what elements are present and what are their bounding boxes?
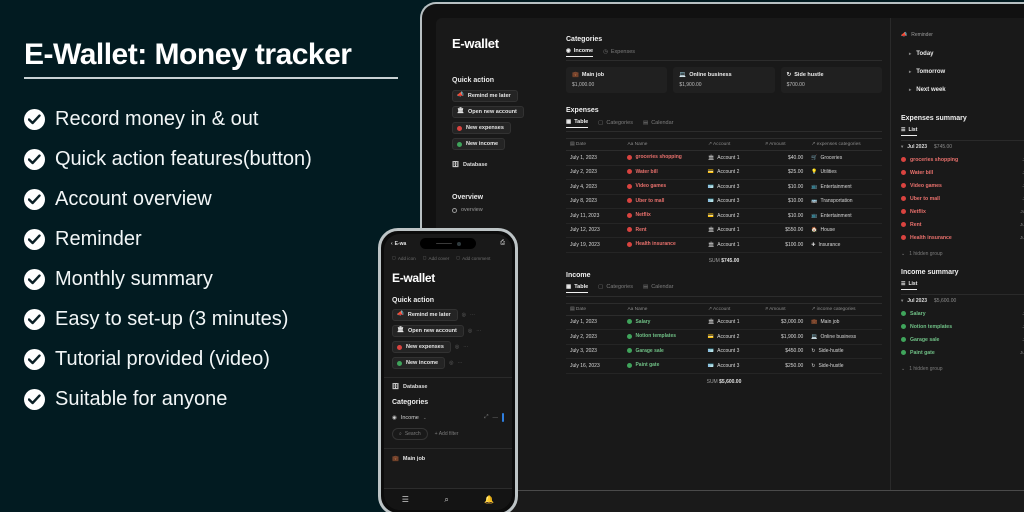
cell-account: 💳 Account 2 [704,209,761,224]
feature-item: Record money in & out [24,99,424,139]
cell-name: Health insurance [623,238,703,253]
summary-row-name: Water bill [910,170,1018,176]
summary-row[interactable]: groceries shopping Jul 1 [901,153,1024,166]
cell-date: July 8, 2023 [566,194,623,209]
feature-label: Record money in & out [55,108,258,131]
phone-quick-action-heading: Quick action [384,285,512,309]
database-icon: 🗄 [392,384,399,390]
phone-quick-action-button[interactable]: 🏛Open new account [392,325,464,337]
refresh-icon: ↻ [811,363,815,369]
cell-date: July 2, 2023 [566,330,623,345]
table-row[interactable]: July 2, 2023 Water bill 💳 Account 2 $25.… [566,165,882,180]
cell-date: July 16, 2023 [566,359,623,374]
laptop-screen: E-wallet Quick action 📣Remind me later 🏛… [436,18,1024,512]
more-icon[interactable]: — [493,415,499,421]
tab-income[interactable]: ◉ Income [566,48,593,57]
phone-bottom-nav: ☰ ⌕ 🔔 [384,488,512,510]
column-icon: ↗ [811,142,815,147]
summary-row[interactable]: Notion templates Jul 2 [901,320,1024,333]
refresh-icon: ↻ [811,348,815,354]
tab-label: Table [574,284,588,290]
quick-action-remind-me-later[interactable]: 📣Remind me later [452,90,518,102]
income-table-header: ▤ Date Aa Name ↗ Account # Amount ↗ inco… [566,303,882,315]
table-row[interactable]: July 2, 2023 Notion templates 💳 Account … [566,330,882,345]
table-row[interactable]: July 11, 2023 Netflix 💳 Account 2 $10.00… [566,209,882,224]
bank-icon: 🏛 [457,109,464,115]
category-card-name-row: 💻 Online business [679,72,768,78]
summary-row[interactable]: Paint gate Jul 16 [901,346,1024,359]
summary-row-name: Rent [910,222,1016,228]
bank-icon: 🏛 [708,155,714,161]
refresh-icon: ↻ [787,72,792,78]
quick-action-label: New income [466,141,498,147]
phone-notch [420,238,476,249]
cell-date: July 19, 2023 [566,238,623,253]
income-tabs: ▦ Table ▢ Categories ▤ Calendar [566,284,882,297]
cell-category: ✚ Insurance [807,238,882,253]
category-card-amount: $700.00 [787,82,876,88]
quick-action-label: Remind me later [468,93,511,99]
quick-action-heading: Quick action [452,77,548,84]
column-header[interactable]: # Amount [761,303,807,315]
add-filter-button[interactable]: + Add filter [435,431,459,437]
minus-circle-icon [627,155,632,160]
quick-action-new-expenses[interactable]: New expenses [452,122,511,134]
cell-amount: $10.00 [761,194,807,209]
quick-action-label: Open new account [468,109,517,115]
income-summary-group[interactable]: ▾ Jul 2023 $5,600.00 [901,294,1024,307]
ewallet-app: E-wallet Quick action 📣Remind me later 🏛… [436,18,1024,512]
column-label: Account [713,142,730,147]
chevron-down-icon: ▾ [901,298,903,304]
more-icon[interactable]: ⋯ [463,344,469,350]
cell-category: 💼 Main job [807,315,882,330]
cart-icon: 🛒 [811,155,817,161]
bank-icon: 🏛 [397,328,404,334]
phone-first-item-label: Main job [403,456,425,462]
expenses-sum-value: $745.00 [721,258,739,264]
summary-row-name: Video games [910,183,1018,189]
tab-label: Expenses [611,49,635,55]
database-link[interactable]: 🗄 Database [452,162,548,168]
expenses-summary-view-label: List [908,127,917,133]
column-header[interactable]: ↗ Account [704,303,761,315]
summary-row-name: Garage sale [910,337,1018,343]
phone-database-link[interactable]: 🗄 Database [384,377,512,390]
bank-icon: 🏛 [708,242,714,248]
column-header[interactable]: ▤ Date [566,139,623,151]
category-card-name-row: 💼 Main job [572,72,661,78]
wallet-icon: 🪪 [708,198,714,204]
expenses-hidden-label: 1 hidden group [909,251,942,257]
cell-category: ↻ Side-hustle [807,359,882,374]
app-right-sidebar: 📣 Reminder ▸ Today ▸ Tomorrow ▸ Next wee… [890,18,1024,512]
add-filter-label: Add filter [439,431,459,437]
tab-calendar[interactable]: ▤ Calendar [643,119,674,128]
category-card-name: Main job [582,72,604,78]
cell-name: groceries shopping [623,151,703,166]
plus-circle-icon [901,350,906,355]
phone-quick-action-row: New income ◎ ⋯ [384,357,512,373]
expenses-hidden-group[interactable]: ⌄ 1 hidden group [901,251,1024,257]
expenses-summary-view-tab[interactable]: ☰ List [901,127,917,136]
cell-name: Rent [623,223,703,238]
phone-meta-add-comment[interactable]: ◻ Add comment [456,255,490,261]
minus-circle-icon [397,345,402,350]
income-summary-group-label: Jul 2023 [907,298,927,304]
feature-label: Account overview [55,188,212,211]
tab-table[interactable]: ▦ Table [566,284,588,293]
cell-account: 🏛 Account 1 [704,238,761,253]
category-card[interactable]: 💼 Main job $1,000.00 [566,67,667,93]
overview-label: overview [461,207,483,213]
column-header[interactable]: ↗ expenses categories [807,139,882,151]
cell-category: 💻 Online business [807,330,882,345]
reminder-item-label: Today [916,51,933,57]
phone-quick-action-button[interactable]: New expenses [392,341,451,353]
expand-icon[interactable]: ⤢ [484,414,488,421]
table-icon: ▦ [566,119,571,125]
calendar-icon: ▤ [643,120,648,126]
phone-quick-action-row: 📣Remind me later ◎ ⋯ [384,309,512,325]
plus-circle-icon [457,142,462,147]
home-icon: 🏠 [811,227,817,233]
cell-date: July 11, 2023 [566,209,623,224]
phone-back-button[interactable]: ‹ E-wa [391,241,406,247]
expenses-tabs: ▦ Table ▢ Categories ▤ Calendar [566,119,882,132]
phone-meta-add-cover[interactable]: ◻ Add cover [423,255,450,261]
income-sum-value: $5,600.00 [719,379,741,385]
summary-row-name: Uber to mall [910,196,1018,202]
tv-icon: 📺 [811,184,817,190]
cell-date: July 1, 2023 [566,315,623,330]
check-circle-icon [24,109,45,130]
plus-circle-icon [901,337,906,342]
cell-category: 🏠 House [807,223,882,238]
minus-circle-icon [901,196,906,201]
phone-quick-action-button[interactable]: 📣Remind me later [392,309,458,321]
column-icon: ▤ [570,142,575,147]
feature-item: Account overview [24,179,424,219]
table-row[interactable]: July 1, 2023 groceries shopping 🏛 Accoun… [566,151,882,166]
summary-row-name: Health insurance [910,235,1016,241]
expenses-summary-title: Expenses summary [901,115,1024,122]
table-row[interactable]: July 12, 2023 Rent 🏛 Account 1 $550.00 🏠… [566,223,882,238]
feature-label: Reminder [55,228,142,251]
minus-circle-icon [627,242,632,247]
check-circle-icon [24,269,45,290]
sidebar-item-overview[interactable]: overview [452,207,548,213]
expenses-table: ▤ Date Aa Name ↗ Account # Amount ↗ expe… [566,138,882,253]
income-title: Income [566,272,882,279]
check-circle-icon [24,189,45,210]
megaphone-icon: 📣 [901,32,907,38]
chevron-down-icon: ⌄ [901,251,905,257]
cell-amount: $10.00 [761,180,807,195]
search-input[interactable]: ⌕ Search [392,428,428,440]
card-icon: 💳 [708,334,714,340]
app-title: E-wallet [452,36,548,51]
cell-amount: $3,000.00 [761,315,807,330]
phone-quick-action-label: New income [406,360,438,366]
cell-name: Notion templates [623,330,703,345]
cell-amount: $40.00 [761,151,807,166]
cell-amount: $450.00 [761,344,807,359]
income-summary-view-tab[interactable]: ☰ List [901,281,917,290]
feature-item: Monthly summary [24,259,424,299]
quick-action-new-income[interactable]: New income [452,138,505,150]
laptop-icon: 💻 [679,72,686,78]
category-card[interactable]: 💻 Online business $1,900.00 [673,67,774,93]
summary-row-date: Jul 16 [1020,350,1024,355]
cell-date: July 12, 2023 [566,223,623,238]
more-icon[interactable]: ⋯ [476,328,482,334]
column-label: Date [576,307,586,312]
options-icon[interactable]: ◎ [462,312,466,318]
bell-icon[interactable]: 🔔 [484,495,494,504]
summary-row[interactable]: Salary Jul 1 [901,307,1024,320]
summary-row-date: Jul 11 [1020,209,1024,214]
expenses-summary-list: groceries shopping Jul 1 Water bill Jul … [901,153,1024,244]
phone-quick-action-row: New expenses ◎ ⋯ [384,341,512,357]
income-summary-group-amount: $5,600.00 [934,298,956,304]
wallet-icon: 🪪 [708,363,714,369]
list-icon: ☰ [901,281,905,287]
promo-panel: E-Wallet: Money tracker Record money in … [24,38,424,419]
summary-row[interactable]: Netflix Jul 11 [901,205,1024,218]
summary-row[interactable]: Rent Jul 12 [901,218,1024,231]
options-icon[interactable]: ◎ [455,344,459,350]
more-icon[interactable]: ⋯ [470,312,476,318]
cell-amount: $1,900.00 [761,330,807,345]
cross-icon: ✚ [811,242,815,248]
tab-calendar[interactable]: ▤ Calendar [643,284,674,293]
tab-expenses[interactable]: ◷ Expenses [603,48,635,57]
summary-row[interactable]: Video games Jul 4 [901,179,1024,192]
quick-action-list: 📣Remind me later 🏛Open new account New e… [452,90,548,154]
share-icon[interactable]: ⎙ [500,240,505,247]
summary-row-name: Paint gate [910,350,1016,356]
minus-circle-icon [901,157,906,162]
feature-list: Record money in & out Quick action featu… [24,99,424,419]
minus-circle-icon [627,227,632,232]
income-summary-title: Income summary [901,269,1024,276]
table-row[interactable]: July 16, 2023 Paint gate 🪪 Account 3 $25… [566,359,882,374]
reminder-item-label: Tomorrow [916,69,945,75]
table-row[interactable]: July 19, 2023 Health insurance 🏛 Account… [566,238,882,253]
expenses-summary-group[interactable]: ▾ Jul 2023 $745.00 [901,140,1024,153]
category-card[interactable]: ↻ Side hustle $700.00 [781,67,882,93]
megaphone-icon: 📣 [457,93,464,99]
summary-row-name: Netflix [910,209,1016,215]
gallery-icon: ▢ [598,120,603,126]
summary-row[interactable]: Garage sale Jul 3 [901,333,1024,346]
phone-page-meta: ◻ Add icon ◻ Add cover ◻ Add comment [384,247,512,261]
column-header[interactable]: Aa Name [623,139,703,151]
cell-name: Video games [623,180,703,195]
database-label: Database [463,162,487,168]
cell-amount: $25.00 [761,165,807,180]
category-card-amount: $1,900.00 [679,82,768,88]
phone-meta-label: Add cover [429,256,450,261]
expenses-table-header: ▤ Date Aa Name ↗ Account # Amount ↗ expe… [566,139,882,151]
cell-account: 🪪 Account 3 [704,344,761,359]
table-row[interactable]: July 4, 2023 Video games 🪪 Account 3 $10… [566,180,882,195]
category-card-name-row: ↻ Side hustle [787,72,876,78]
wallet-icon: 🪪 [708,184,714,190]
reminder-list: ▸ Today ▸ Tomorrow ▸ Next week [901,45,1024,99]
plus-circle-icon [627,334,632,339]
table-row[interactable]: July 1, 2023 Salary 🏛 Account 1 $3,000.0… [566,315,882,330]
briefcase-icon: 💼 [392,456,399,462]
summary-row[interactable]: Water bill Jul 2 [901,166,1024,179]
column-icon: ↗ [708,142,712,147]
tab-categories[interactable]: ▢ Categories [598,284,633,293]
gallery-icon: ▢ [598,284,603,290]
summary-row[interactable]: Uber to mall Jul 8 [901,192,1024,205]
phone-meta-label: Add icon [398,256,416,261]
column-icon: ▤ [570,307,575,312]
column-icon: ↗ [708,307,712,312]
check-circle-icon [24,229,45,250]
feature-item: Tutorial provided (video) [24,339,424,379]
category-cards: 💼 Main job $1,000.00 💻 Online business $… [566,67,882,93]
income-sum: SUM $5,600.00 [566,374,882,385]
summary-row-date: Jul 12 [1020,222,1024,227]
cell-account: 🪪 Account 3 [704,359,761,374]
phone-category-selected: Income [401,415,419,421]
briefcase-icon: 💼 [811,319,817,325]
overview-heading: Overview [452,194,548,201]
feature-item: Reminder [24,219,424,259]
clock-icon: ◷ [603,49,608,55]
income-sum-label: SUM [707,379,718,385]
calendar-icon: ▤ [643,284,648,290]
income-hidden-group[interactable]: ⌄ 1 hidden group [901,366,1024,372]
cell-date: July 4, 2023 [566,180,623,195]
cell-category: ↻ Side-hustle [807,344,882,359]
reminder-item-label: Next week [916,87,945,93]
cell-date: July 3, 2023 [566,344,623,359]
column-header[interactable]: ↗ Account [704,139,761,151]
cell-date: July 2, 2023 [566,165,623,180]
column-icon: Aa [627,142,633,147]
chevron-down-icon: ▾ [901,144,903,150]
megaphone-icon: 📣 [397,312,404,318]
phone-quick-action-button[interactable]: New income [392,357,445,369]
cell-date: July 1, 2023 [566,151,623,166]
cell-category: 🛒 Groceries [807,151,882,166]
cell-account: 🪪 Account 3 [704,180,761,195]
cell-name: Paint gate [623,359,703,374]
quick-action-open-new-account[interactable]: 🏛Open new account [452,106,524,118]
tab-label: Calendar [651,120,673,126]
card-icon: 💳 [708,169,714,175]
summary-row-name: Notion templates [910,324,1018,330]
laptop-icon: 💻 [811,334,817,340]
tab-categories[interactable]: ▢ Categories [598,119,633,128]
coin-icon: ◉ [392,415,397,421]
summary-row-name: groceries shopping [910,157,1018,163]
phone-mockup: ‹ E-wa ⎙ ◻ Add icon ◻ Add cover ◻ Add co… [378,228,518,512]
category-card-amount: $1,000.00 [572,82,661,88]
feature-item: Easy to set-up (3 minutes) [24,299,424,339]
phone-list-item[interactable]: 💼 Main job [384,448,512,469]
minus-circle-icon [901,209,906,214]
category-card-name: Side hustle [794,72,823,78]
table-row[interactable]: July 3, 2023 Garage sale 🪪 Account 3 $45… [566,344,882,359]
search-icon[interactable]: ⌕ [444,495,448,505]
cell-account: 🪪 Account 3 [704,194,761,209]
summary-row[interactable]: Health insurance Jul 19 [901,231,1024,244]
tab-table[interactable]: ▦ Table [566,119,588,128]
phone-screen: ‹ E-wa ⎙ ◻ Add icon ◻ Add cover ◻ Add co… [384,234,512,510]
column-label: Date [576,142,586,147]
cell-category: 💡 Utilities [807,165,882,180]
cell-account: 💳 Account 2 [704,165,761,180]
options-icon[interactable]: ◎ [468,328,472,334]
phone-category-selector[interactable]: ◉ Income ⌄ ⤢ — [384,411,512,422]
tv-icon: 📺 [811,213,817,219]
reminder-label: Reminder [911,32,933,38]
column-header[interactable]: # Amount [761,139,807,151]
cell-category: 🚌 Transportation [807,194,882,209]
circle-icon [452,208,457,213]
column-label: Name [635,142,648,147]
column-header[interactable]: ▤ Date [566,303,623,315]
check-circle-icon [24,349,45,370]
reminder-item-today[interactable]: ▸ Today [901,45,1024,63]
feature-label: Easy to set-up (3 minutes) [55,308,288,331]
column-header[interactable]: Aa Name [623,303,703,315]
expenses-summary-group-amount: $745.00 [934,144,952,150]
income-hidden-label: 1 hidden group [909,366,942,372]
cell-category: 📺 Entertainment [807,180,882,195]
minus-circle-icon [901,222,906,227]
cell-name: Uber to mall [623,194,703,209]
minus-circle-icon [627,213,632,218]
search-placeholder: Search [405,431,421,437]
phone-meta-add-icon[interactable]: ◻ Add icon [392,255,416,261]
chevron-right-icon: ▸ [909,51,911,57]
briefcase-icon: 💼 [572,72,579,78]
tab-label: Income [574,48,593,54]
menu-icon[interactable]: ☰ [402,495,409,504]
chevron-right-icon: ▸ [909,87,911,93]
table-row[interactable]: July 8, 2023 Uber to mall 🪪 Account 3 $1… [566,194,882,209]
income-summary-view-label: List [908,281,917,287]
reminder-item-tomorrow[interactable]: ▸ Tomorrow [901,63,1024,81]
wallet-icon: 🪪 [708,348,714,354]
table-icon: ▦ [566,284,571,290]
more-icon[interactable]: ⋯ [457,360,463,366]
column-label: Name [635,307,648,312]
reminder-item-next-week[interactable]: ▸ Next week [901,81,1024,99]
cell-amount: $10.00 [761,209,807,224]
options-icon[interactable]: ◎ [449,360,453,366]
column-label: Amount [769,142,786,147]
chevron-left-icon: ‹ [391,241,393,247]
cell-amount: $550.00 [761,223,807,238]
column-icon: Aa [627,307,633,312]
column-header[interactable]: ↗ income categories [807,303,882,315]
plus-circle-icon [901,324,906,329]
phone-quick-action-label: New expenses [406,344,444,350]
minus-circle-icon [457,126,462,131]
cell-amount: $100.00 [761,238,807,253]
scrollbar-indicator[interactable] [502,413,504,422]
bank-icon: 🏛 [708,319,714,325]
